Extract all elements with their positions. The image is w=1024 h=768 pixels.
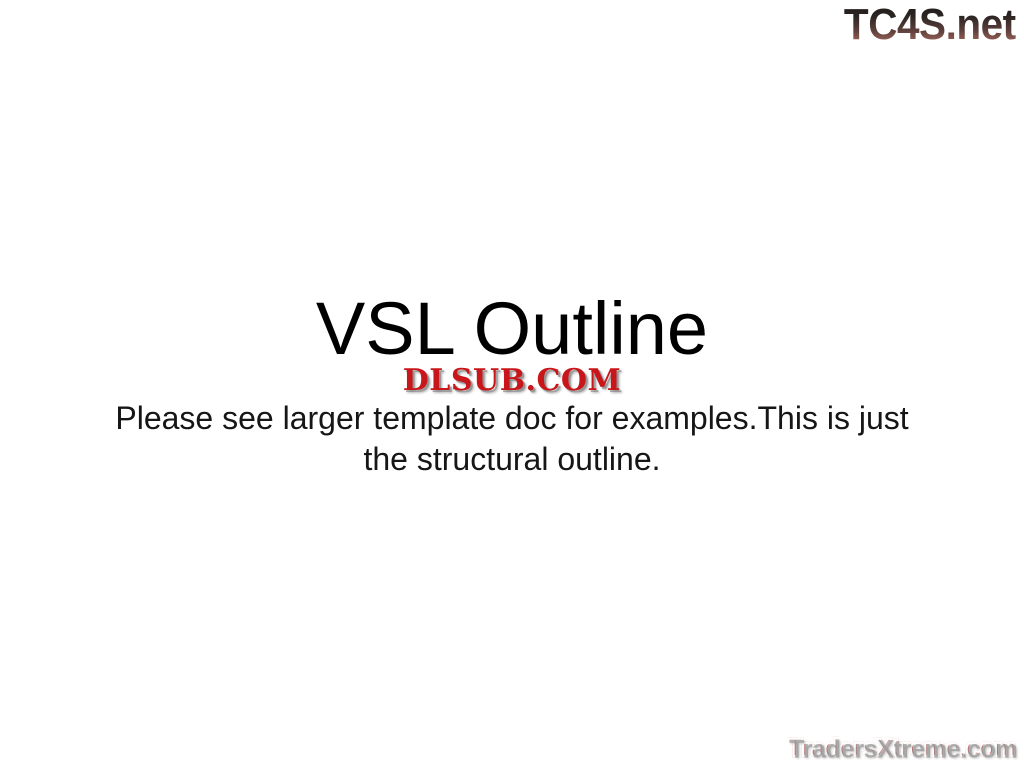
tradersxtreme-label: TradersXtreme.com xyxy=(788,734,1016,762)
slide-title: VSL Outline xyxy=(0,290,1024,368)
subtitle-line-2: the structural outline. xyxy=(70,439,954,480)
tradersxtreme-watermark: TradersXtreme.com xyxy=(788,734,1016,762)
dlsub-watermark: DLSUB.COM xyxy=(403,365,621,397)
slide-subtitle: Please see larger template doc for examp… xyxy=(70,398,954,480)
tc4s-site-logo: TC4S.net xyxy=(844,2,1016,48)
subtitle-line-1: Please see larger template doc for examp… xyxy=(70,398,954,439)
slide-canvas: TC4S.net VSL Outline DLSUB.COM Please se… xyxy=(0,0,1024,768)
